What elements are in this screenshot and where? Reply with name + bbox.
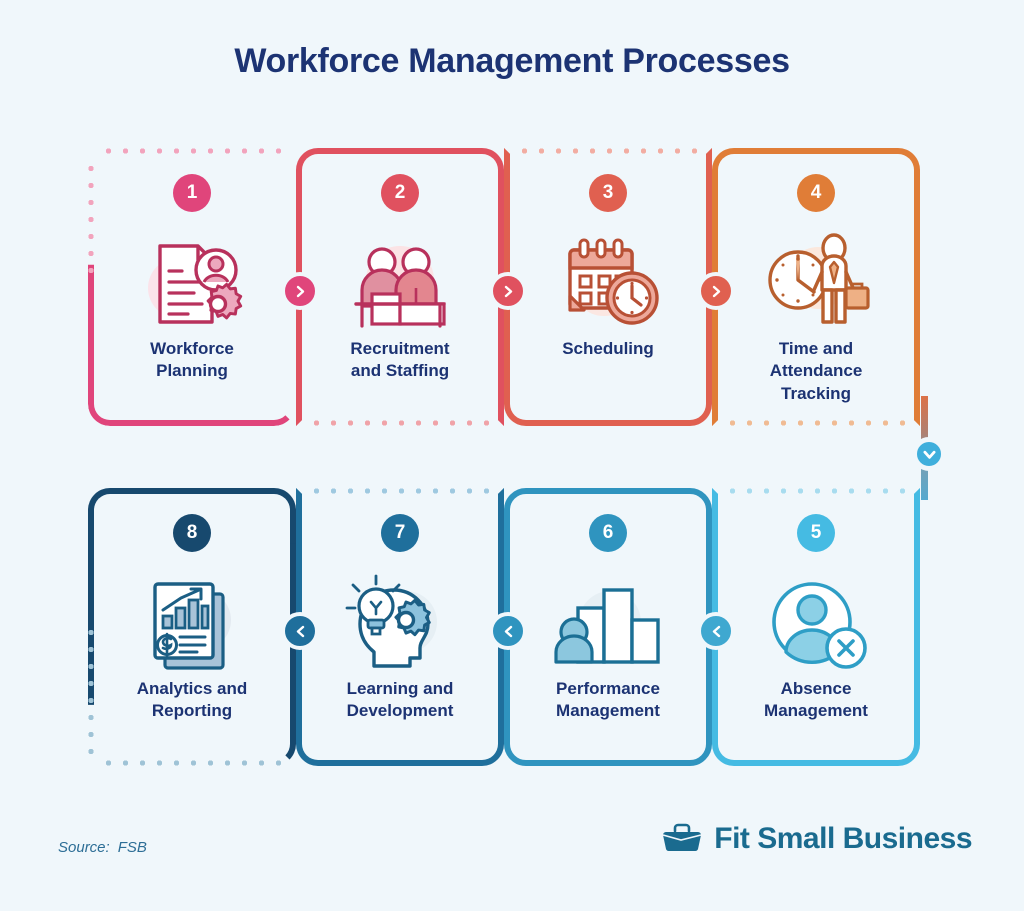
step-label: Learning andDevelopment <box>302 678 498 723</box>
step-label-text: Scheduling <box>562 339 654 358</box>
two-people-desk-icon <box>296 224 504 340</box>
step-label: Recruitmentand Staffing <box>302 338 498 383</box>
step-label-text: PerformanceManagement <box>556 679 660 720</box>
step-card-5[interactable]: 5 AbsenceManagement <box>712 488 920 766</box>
infographic-canvas: Workforce Management Processes 1 <box>0 0 1024 911</box>
step-number-badge: 5 <box>797 514 835 552</box>
chevron-left-icon <box>710 625 723 638</box>
step-number-badge: 4 <box>797 174 835 212</box>
step-label: PerformanceManagement <box>510 678 706 723</box>
chevron-down-icon <box>922 447 937 462</box>
card-5-border-dotted-top <box>724 488 908 494</box>
step-label: Analytics andReporting <box>94 678 290 723</box>
step-label-text: Recruitmentand Staffing <box>350 339 449 380</box>
step-label: Scheduling <box>510 338 706 360</box>
person-x-icon <box>712 564 920 680</box>
page-title: Workforce Management Processes <box>0 42 1024 81</box>
card-4-border-dotted-bottom <box>724 420 908 426</box>
connector-arrow-7-to-8[interactable] <box>281 612 319 650</box>
process-row-bottom: 8 <box>88 488 936 766</box>
step-card-7[interactable]: 7 <box>296 488 504 766</box>
bar-chart-person-icon <box>504 564 712 680</box>
chevron-left-icon <box>502 625 515 638</box>
briefcase-icon <box>661 822 703 856</box>
card-3-border-dotted-top <box>516 148 700 154</box>
step-label: WorkforcePlanning <box>94 338 290 383</box>
source-value: FSB <box>118 839 147 856</box>
connector-arrow-3-to-4[interactable] <box>697 272 735 310</box>
step-number-badge: 1 <box>173 174 211 212</box>
step-label-text: WorkforcePlanning <box>150 339 234 380</box>
step-label-text: Analytics andReporting <box>137 679 248 720</box>
source-label: Source: <box>58 839 110 856</box>
chevron-right-icon <box>710 285 723 298</box>
chevron-left-icon <box>294 625 307 638</box>
report-chart-icon <box>88 564 296 680</box>
clock-businessman-icon <box>712 224 920 340</box>
step-card-2[interactable]: 2 Recruitmentand Staffing <box>296 148 504 426</box>
card-2-border-dotted-bottom <box>308 420 492 426</box>
logo-text: Fit Small Business <box>714 822 972 856</box>
step-card-8[interactable]: 8 <box>88 488 296 766</box>
source-note: Source:FSB <box>58 839 147 856</box>
chevron-right-icon <box>502 285 515 298</box>
step-card-3[interactable]: 3 <box>504 148 712 426</box>
connector-arrow-4-to-5[interactable] <box>912 437 946 471</box>
step-number-badge: 3 <box>589 174 627 212</box>
connector-arrow-1-to-2[interactable] <box>281 272 319 310</box>
step-card-4[interactable]: 4 Time andAttendanc <box>712 148 920 426</box>
step-number-badge: 2 <box>381 174 419 212</box>
card-1-border-dotted-top <box>100 148 284 154</box>
step-number-badge: 6 <box>589 514 627 552</box>
chevron-right-icon <box>294 285 307 298</box>
step-label-text: Learning andDevelopment <box>347 679 454 720</box>
head-bulb-gear-icon <box>296 564 504 680</box>
card-7-border-dotted-top <box>308 488 492 494</box>
step-card-1[interactable]: 1 <box>88 148 296 426</box>
document-person-gear-icon <box>88 224 296 340</box>
brand-logo: Fit Small Business <box>661 822 972 856</box>
step-card-6[interactable]: 6 PerformanceManagement <box>504 488 712 766</box>
step-label: AbsenceManagement <box>718 678 914 723</box>
step-label: Time andAttendanceTracking <box>718 338 914 405</box>
step-label-text: Time andAttendanceTracking <box>770 339 863 403</box>
connector-arrow-6-to-7[interactable] <box>489 612 527 650</box>
step-label-text: AbsenceManagement <box>764 679 868 720</box>
connector-arrow-5-to-6[interactable] <box>697 612 735 650</box>
step-number-badge: 8 <box>173 514 211 552</box>
process-row-top: 1 <box>88 148 936 426</box>
calendar-clock-icon <box>504 224 712 340</box>
step-number-badge: 7 <box>381 514 419 552</box>
connector-arrow-2-to-3[interactable] <box>489 272 527 310</box>
card-8-border-dotted-bottom <box>100 760 284 766</box>
